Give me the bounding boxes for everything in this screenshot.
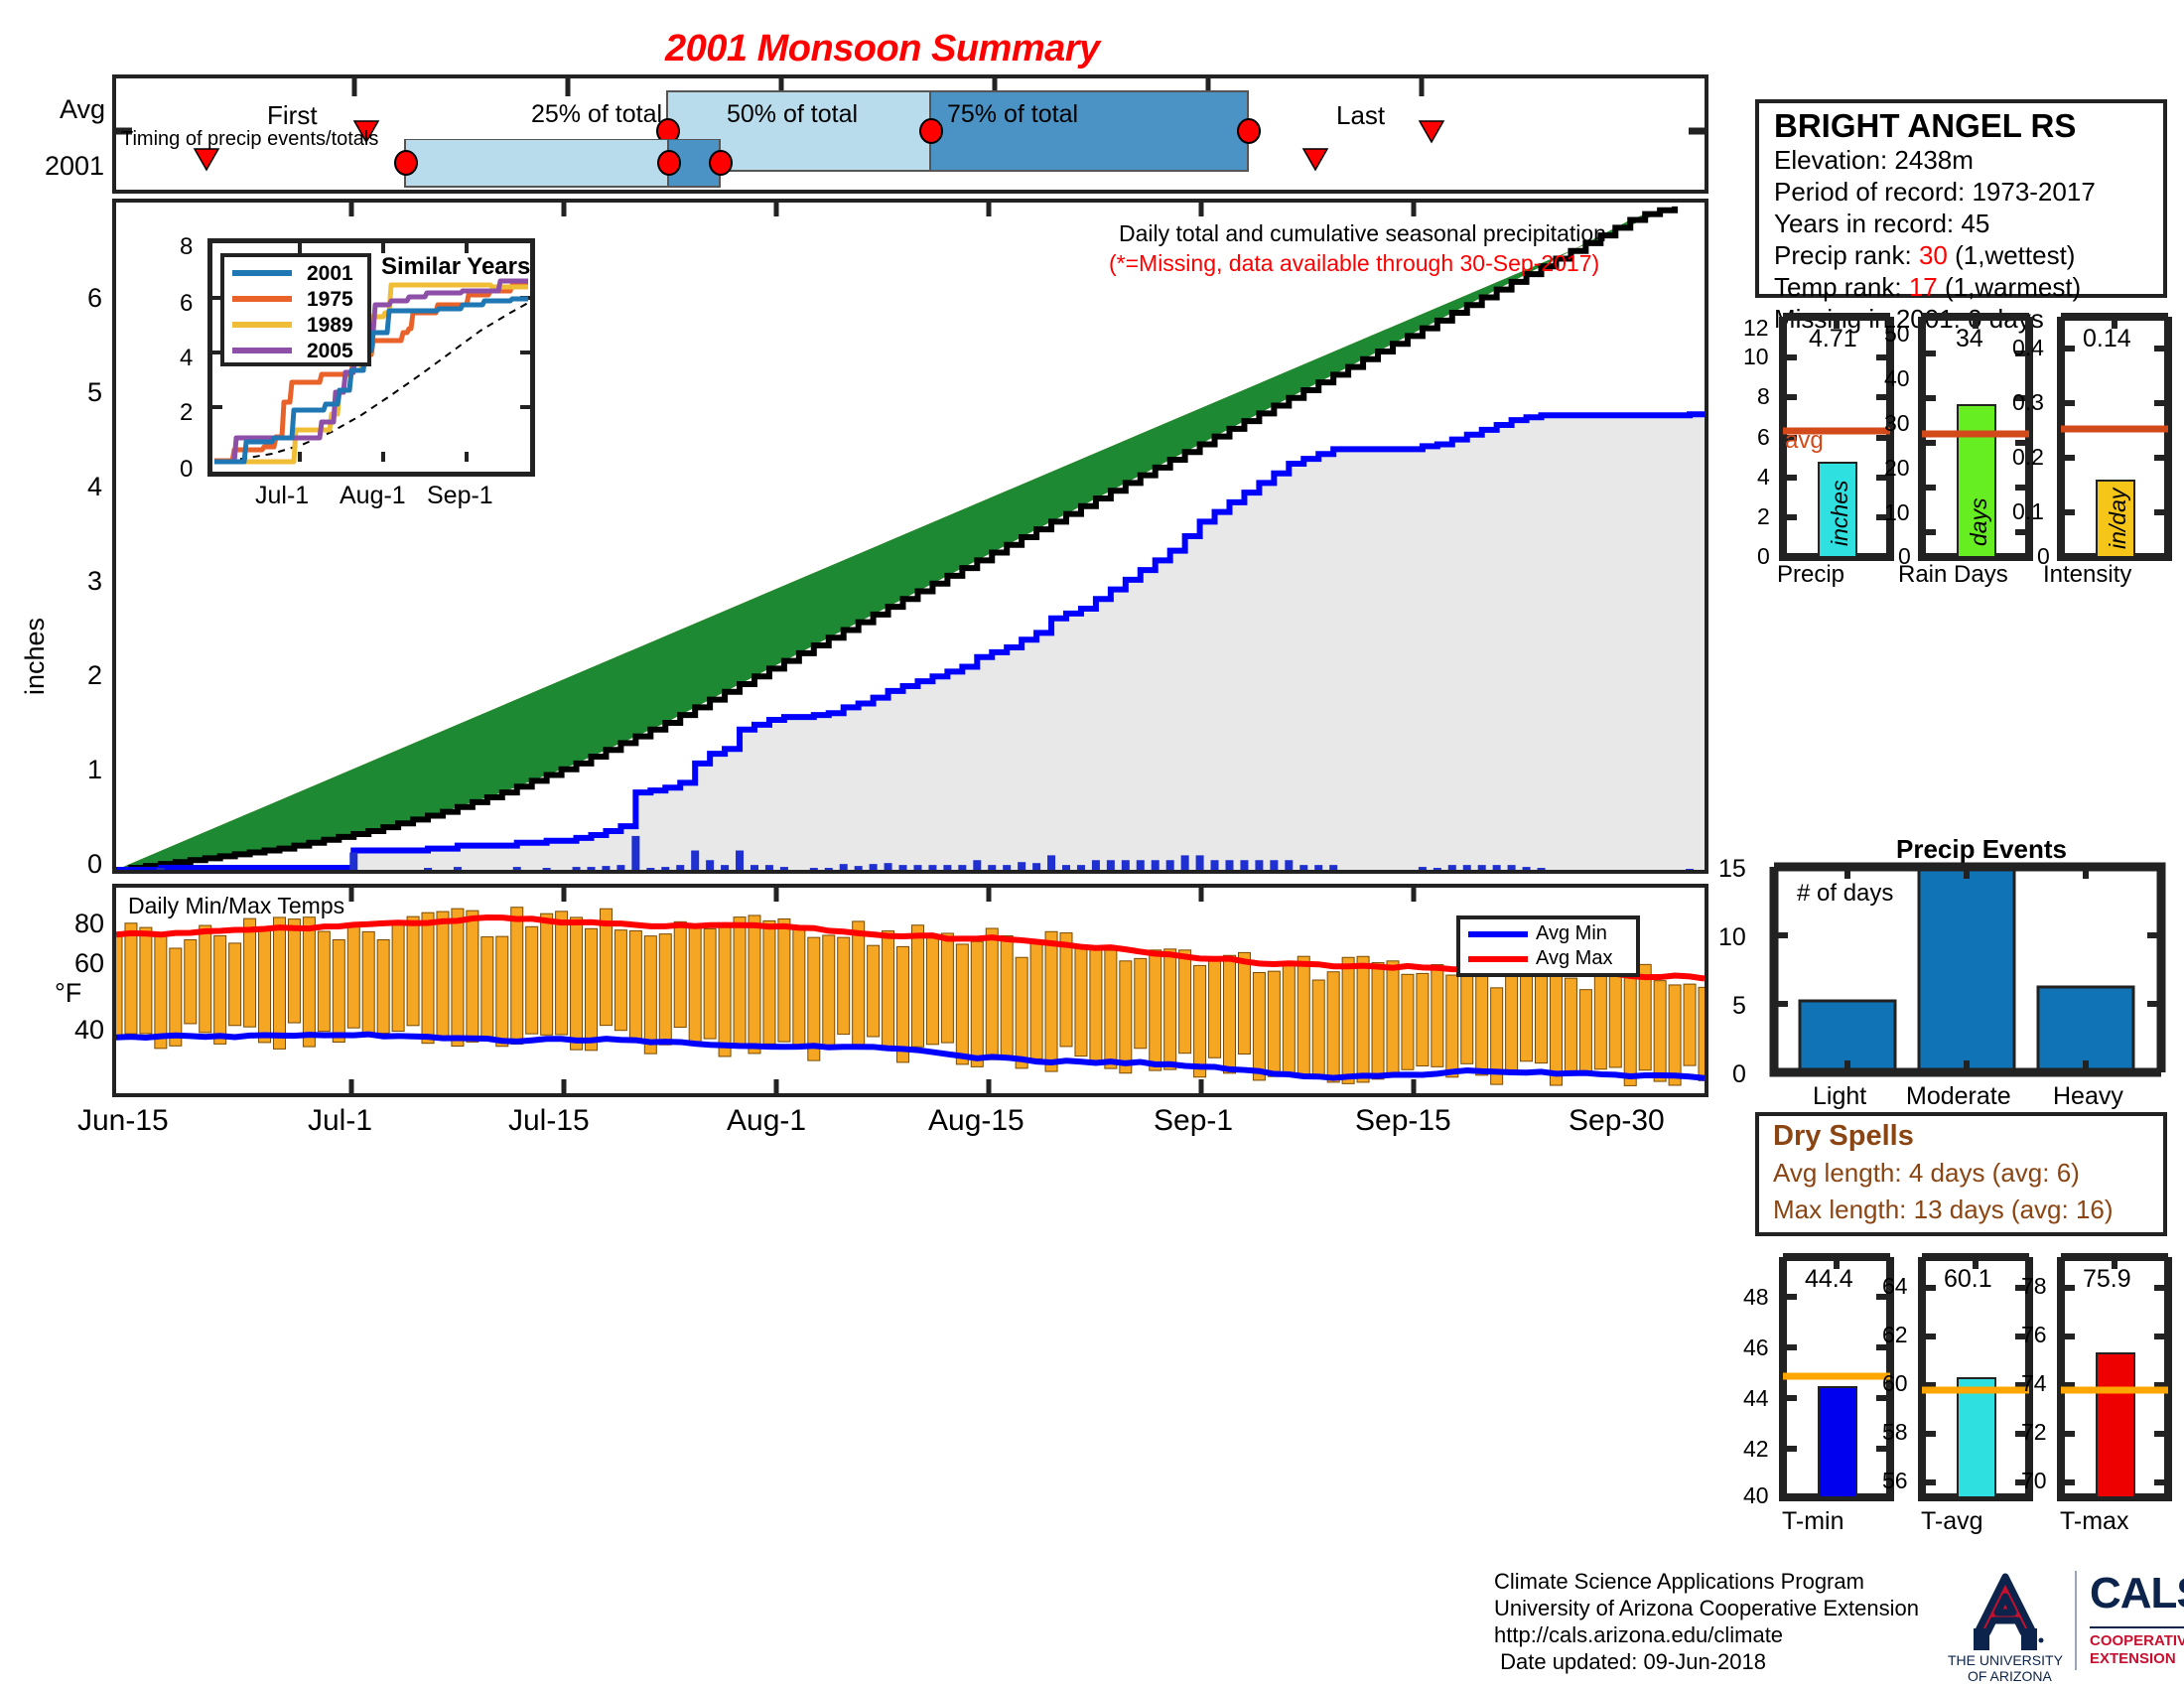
t-min-value-label: 44.4 bbox=[1805, 1265, 1853, 1294]
inset-ytick-6: 6 bbox=[180, 290, 193, 318]
inset-legend-1989: 1989 bbox=[307, 314, 353, 338]
xtick-sep1: Sep-1 bbox=[1154, 1104, 1233, 1138]
main-ytick-2: 2 bbox=[87, 660, 102, 691]
inset-legend-1975: 1975 bbox=[307, 288, 353, 312]
main-ytick-4: 4 bbox=[87, 472, 102, 502]
timing-row-label-2001: 2001 bbox=[45, 151, 104, 182]
t-avg-category-label: T-avg bbox=[1921, 1507, 1983, 1536]
timing-year-row bbox=[112, 139, 1708, 195]
main-precip-panel: Daily total and cumulative seasonal prec… bbox=[112, 199, 1708, 874]
rain-days-ytick-40: 40 bbox=[1884, 365, 1910, 392]
rain-days-ytick-50: 50 bbox=[1884, 321, 1910, 348]
t-min-ytick-42: 42 bbox=[1743, 1436, 1769, 1463]
temp-ylabel: °F bbox=[55, 978, 81, 1009]
similar-years-inset: Similar Years 2001 1975 1989 2005 bbox=[207, 238, 535, 477]
intensity-summary-chart: 0.14 in/day bbox=[2055, 313, 2174, 561]
inset-legend-2005: 2005 bbox=[307, 340, 353, 363]
temp-panel: Daily Min/Max Temps Avg Min Avg Max bbox=[112, 884, 1708, 1097]
timing-last-label: Last bbox=[1336, 100, 1385, 131]
t-avg-summary-chart: 60.1 bbox=[1916, 1253, 2035, 1501]
t-min-category-label: T-min bbox=[1782, 1507, 1844, 1536]
cals-logo-line1: COOPERATIVE bbox=[2090, 1632, 2184, 1649]
station-info-panel: BRIGHT ANGEL RS Elevation: 2438mPeriod o… bbox=[1755, 99, 2167, 298]
inset-xtick-jul1: Jul-1 bbox=[255, 482, 309, 510]
xtick-jul1: Jul-1 bbox=[308, 1104, 372, 1138]
inset-ytick-0: 0 bbox=[180, 456, 193, 484]
main-ytick-1: 1 bbox=[87, 755, 102, 785]
xtick-aug15: Aug-15 bbox=[928, 1104, 1024, 1138]
station-line-1: Period of record: 1973-2017 bbox=[1774, 177, 2096, 208]
precip-category-label: Precip bbox=[1777, 561, 1844, 589]
precip-events-ytick-5: 5 bbox=[1732, 992, 1746, 1021]
precip-events-ytick-0: 0 bbox=[1732, 1060, 1746, 1089]
footer-line-1: University of Arizona Cooperative Extens… bbox=[1494, 1596, 1919, 1621]
t-max-ytick-70: 70 bbox=[2021, 1468, 2047, 1494]
inset-xtick-aug1: Aug-1 bbox=[340, 482, 406, 510]
temp-legend: Avg Min Avg Max bbox=[1456, 915, 1640, 977]
inset-ytick-4: 4 bbox=[180, 345, 193, 372]
precip-events-cat-moderate: Moderate bbox=[1906, 1082, 2011, 1111]
main-ytick-5: 5 bbox=[87, 377, 102, 408]
inset-ytick-2: 2 bbox=[180, 399, 193, 427]
timing-75-label: 75% of total bbox=[947, 100, 1078, 129]
timing-first-label: First bbox=[267, 100, 318, 131]
cals-logo: CALS COOPERATIVE EXTENSION bbox=[2090, 1569, 2184, 1678]
logo-divider bbox=[2075, 1571, 2077, 1670]
t-avg-ytick-62: 62 bbox=[1882, 1322, 1908, 1348]
t-max-ytick-74: 74 bbox=[2021, 1370, 2047, 1397]
precip-events-inner-label: # of days bbox=[1797, 880, 1893, 908]
t-max-value-label: 75.9 bbox=[2083, 1265, 2131, 1294]
timing-25-label: 25% of total bbox=[531, 100, 662, 129]
dry-spells-panel: Dry Spells Avg length: 4 days (avg: 6) M… bbox=[1755, 1112, 2167, 1236]
precip-events-title: Precip Events bbox=[1896, 834, 2067, 865]
temp-ytick-60: 60 bbox=[74, 948, 104, 979]
rain-days-ytick-10: 10 bbox=[1884, 499, 1910, 526]
intensity-bar-text: in/day bbox=[2105, 489, 2131, 549]
rain-days-ytick-30: 30 bbox=[1884, 410, 1910, 437]
t-min-summary-chart: 44.4 bbox=[1777, 1253, 1896, 1501]
dry-spells-line1: Avg length: 4 days (avg: 6) bbox=[1773, 1158, 2080, 1189]
t-min-ytick-46: 46 bbox=[1743, 1335, 1769, 1361]
main-ylabel: inches bbox=[20, 618, 51, 695]
temp-ytick-40: 40 bbox=[74, 1015, 104, 1046]
ua-logo-line1: THE UNIVERSITY bbox=[1948, 1652, 2063, 1668]
rain-days-value-label: 34 bbox=[1956, 325, 1983, 353]
t-max-ytick-78: 78 bbox=[2021, 1273, 2047, 1300]
precip-ytick-0: 0 bbox=[1757, 543, 1770, 570]
intensity-ytick-04: 0.4 bbox=[2012, 335, 2044, 361]
precip-avg-label: avg bbox=[1785, 427, 1824, 455]
t-avg-ytick-58: 58 bbox=[1882, 1419, 1908, 1446]
intensity-ytick-02: 0.2 bbox=[2012, 444, 2044, 471]
cals-logo-line2: EXTENSION bbox=[2090, 1650, 2176, 1667]
precip-events-ytick-15: 15 bbox=[1718, 855, 1746, 884]
timing-row-label-avg: Avg bbox=[60, 94, 105, 125]
inset-legend-2001: 2001 bbox=[307, 262, 353, 286]
temp-ytick-80: 80 bbox=[74, 909, 104, 939]
temp-panel-label: Daily Min/Max Temps bbox=[128, 893, 344, 919]
main-ytick-0: 0 bbox=[87, 849, 102, 880]
precip-bar-text: inches bbox=[1827, 481, 1853, 546]
inset-xtick-sep1: Sep-1 bbox=[427, 482, 493, 510]
t-max-ytick-72: 72 bbox=[2021, 1419, 2047, 1446]
intensity-ytick-03: 0.3 bbox=[2012, 389, 2044, 416]
main-ytick-3: 3 bbox=[87, 566, 102, 597]
rain-days-category-label: Rain Days bbox=[1898, 561, 2008, 589]
station-line-2: Years in record: 45 bbox=[1774, 209, 1989, 239]
station-name: BRIGHT ANGEL RS bbox=[1774, 107, 2076, 145]
page-title: 2001 Monsoon Summary bbox=[665, 28, 1100, 70]
station-line-0: Elevation: 2438m bbox=[1774, 145, 1974, 176]
intensity-category-label: Intensity bbox=[2043, 561, 2131, 589]
t-max-category-label: T-max bbox=[2060, 1507, 2128, 1536]
main-ytick-6: 6 bbox=[87, 283, 102, 314]
footer-line-0: Climate Science Applications Program bbox=[1494, 1569, 1864, 1595]
inset-title: Similar Years bbox=[381, 253, 530, 281]
xtick-sep30: Sep-30 bbox=[1569, 1104, 1665, 1138]
station-line-3: Precip rank: 30 (1,wettest) bbox=[1774, 240, 2075, 271]
t-min-ytick-48: 48 bbox=[1743, 1284, 1769, 1311]
rain-days-ytick-20: 20 bbox=[1884, 455, 1910, 482]
t-min-ytick-40: 40 bbox=[1743, 1482, 1769, 1509]
xtick-jul15: Jul-15 bbox=[508, 1104, 590, 1138]
ua-logo-line2: OF ARIZONA bbox=[1968, 1668, 2052, 1684]
xtick-sep15: Sep-15 bbox=[1355, 1104, 1451, 1138]
intensity-value-label: 0.14 bbox=[2083, 325, 2131, 353]
timing-50-label: 50% of total bbox=[727, 100, 858, 129]
temp-legend-min: Avg Min bbox=[1536, 922, 1607, 945]
cals-logo-name: CALS bbox=[2090, 1569, 2184, 1618]
precip-events-ytick-10: 10 bbox=[1718, 923, 1746, 952]
precip-summary-chart: 4.71 avg inches bbox=[1777, 313, 1896, 561]
xtick-jun15: Jun-15 bbox=[77, 1104, 169, 1138]
precip-events-cat-light: Light bbox=[1813, 1082, 1866, 1111]
inset-ytick-8: 8 bbox=[180, 233, 193, 261]
footer-line-2: http://cals.arizona.edu/climate bbox=[1494, 1622, 1783, 1648]
precip-ytick-2: 2 bbox=[1757, 503, 1770, 530]
t-avg-ytick-56: 56 bbox=[1882, 1468, 1908, 1494]
precip-ytick-8: 8 bbox=[1757, 383, 1770, 410]
t-min-ytick-44: 44 bbox=[1743, 1385, 1769, 1412]
t-avg-ytick-60: 60 bbox=[1882, 1370, 1908, 1397]
station-line-4: Temp rank: 17 (1,warmest) bbox=[1774, 272, 2081, 303]
t-max-ytick-76: 76 bbox=[2021, 1322, 2047, 1348]
footer-line-3: Date updated: 09-Jun-2018 bbox=[1494, 1649, 1766, 1675]
dry-spells-line2: Max length: 13 days (avg: 16) bbox=[1773, 1195, 2114, 1225]
t-avg-ytick-64: 64 bbox=[1882, 1273, 1908, 1300]
precip-ytick-10: 10 bbox=[1743, 344, 1769, 370]
dry-spells-title: Dry Spells bbox=[1773, 1120, 1914, 1153]
precip-ytick-4: 4 bbox=[1757, 464, 1770, 491]
precip-value-label: 4.71 bbox=[1809, 325, 1857, 353]
intensity-ytick-01: 0.1 bbox=[2012, 498, 2044, 525]
ua-logo: THE UNIVERSITY OF ARIZONA bbox=[1946, 1567, 2065, 1676]
precip-events-chart: # of days bbox=[1752, 862, 2169, 1080]
precip-ytick-12: 12 bbox=[1743, 315, 1769, 342]
temp-legend-max: Avg Max bbox=[1536, 947, 1612, 970]
rain-days-bar-text: days bbox=[1966, 497, 1992, 546]
xtick-aug1: Aug-1 bbox=[727, 1104, 806, 1138]
t-avg-value-label: 60.1 bbox=[1944, 1265, 1992, 1294]
precip-ytick-6: 6 bbox=[1757, 424, 1770, 451]
main-annotation-line2: (*=Missing, data available through 30-Se… bbox=[1109, 250, 1599, 277]
cals-underline bbox=[2090, 1626, 2184, 1628]
precip-events-cat-heavy: Heavy bbox=[2053, 1082, 2123, 1111]
t-max-summary-chart: 75.9 bbox=[2055, 1253, 2174, 1501]
main-annotation-line1: Daily total and cumulative seasonal prec… bbox=[1119, 220, 1606, 247]
